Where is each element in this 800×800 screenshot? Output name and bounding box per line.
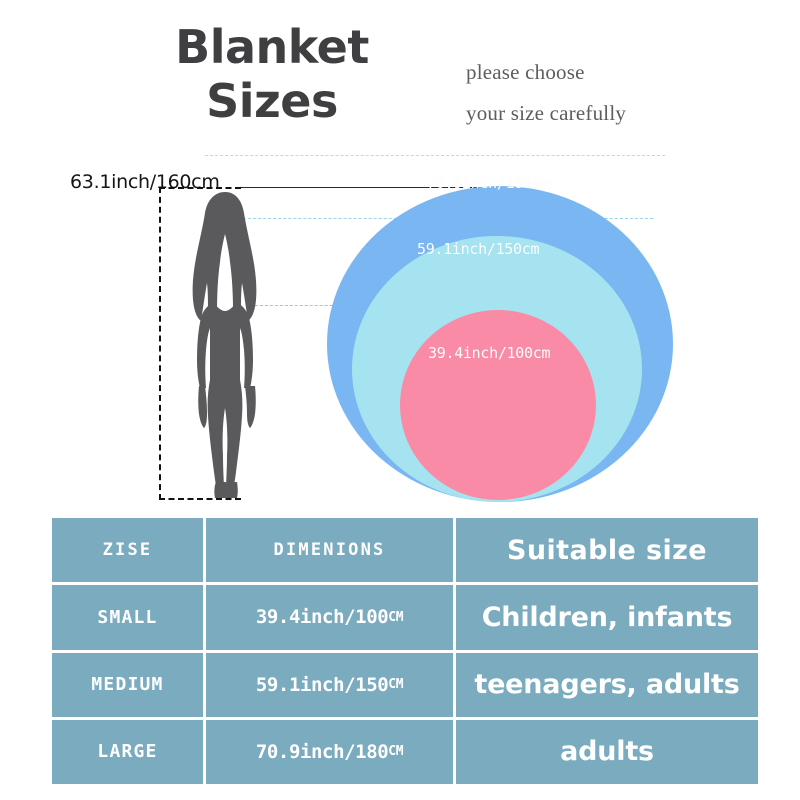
dimension-unit: CM: [388, 677, 403, 692]
table-row: LARGE: [52, 720, 203, 784]
title-line-2: Sizes: [112, 74, 432, 128]
woman-silhouette-icon: [170, 190, 285, 502]
subtitle-line-1: please choose: [466, 52, 716, 93]
table-row: 59.1inch/150CM: [206, 653, 453, 717]
table-row: adults: [456, 720, 758, 784]
subtitle: please choose your size carefully: [466, 52, 716, 134]
guide-line-180cm: [205, 155, 665, 156]
blanket-size-infographic: Blanket Sizes please choose your size ca…: [0, 0, 800, 800]
dimension-value: 59.1inch/150: [256, 674, 388, 696]
table-row: teenagers, adults: [456, 653, 758, 717]
circle-label-medium: 59.1inch/150cm: [417, 240, 539, 258]
circle-label-large: 70.9inch/180cm: [427, 174, 549, 192]
page-title: Blanket Sizes: [112, 20, 432, 129]
dimension-value: 39.4inch/100: [256, 606, 388, 628]
dimension-value: 70.9inch/180: [256, 741, 388, 763]
dimension-unit: CM: [388, 744, 403, 759]
table-row: MEDIUM: [52, 653, 203, 717]
subtitle-line-2: your size carefully: [466, 93, 716, 134]
table-header-size: ZISE: [52, 518, 203, 582]
table-header-suitable-size: Suitable size: [456, 518, 758, 582]
table-header-dimensions: DIMENIONS: [206, 518, 453, 582]
circle-small-100cm: [400, 310, 596, 500]
dimension-unit: CM: [388, 610, 403, 625]
circle-label-small: 39.4inch/100cm: [428, 344, 550, 362]
table-row: Children, infants: [456, 585, 758, 649]
table-row: 39.4inch/100CM: [206, 585, 453, 649]
table-row: 70.9inch/180CM: [206, 720, 453, 784]
table-row: SMALL: [52, 585, 203, 649]
size-table: ZISE DIMENIONS Suitable size SMALL 39.4i…: [52, 518, 752, 784]
title-line-1: Blanket: [112, 20, 432, 74]
